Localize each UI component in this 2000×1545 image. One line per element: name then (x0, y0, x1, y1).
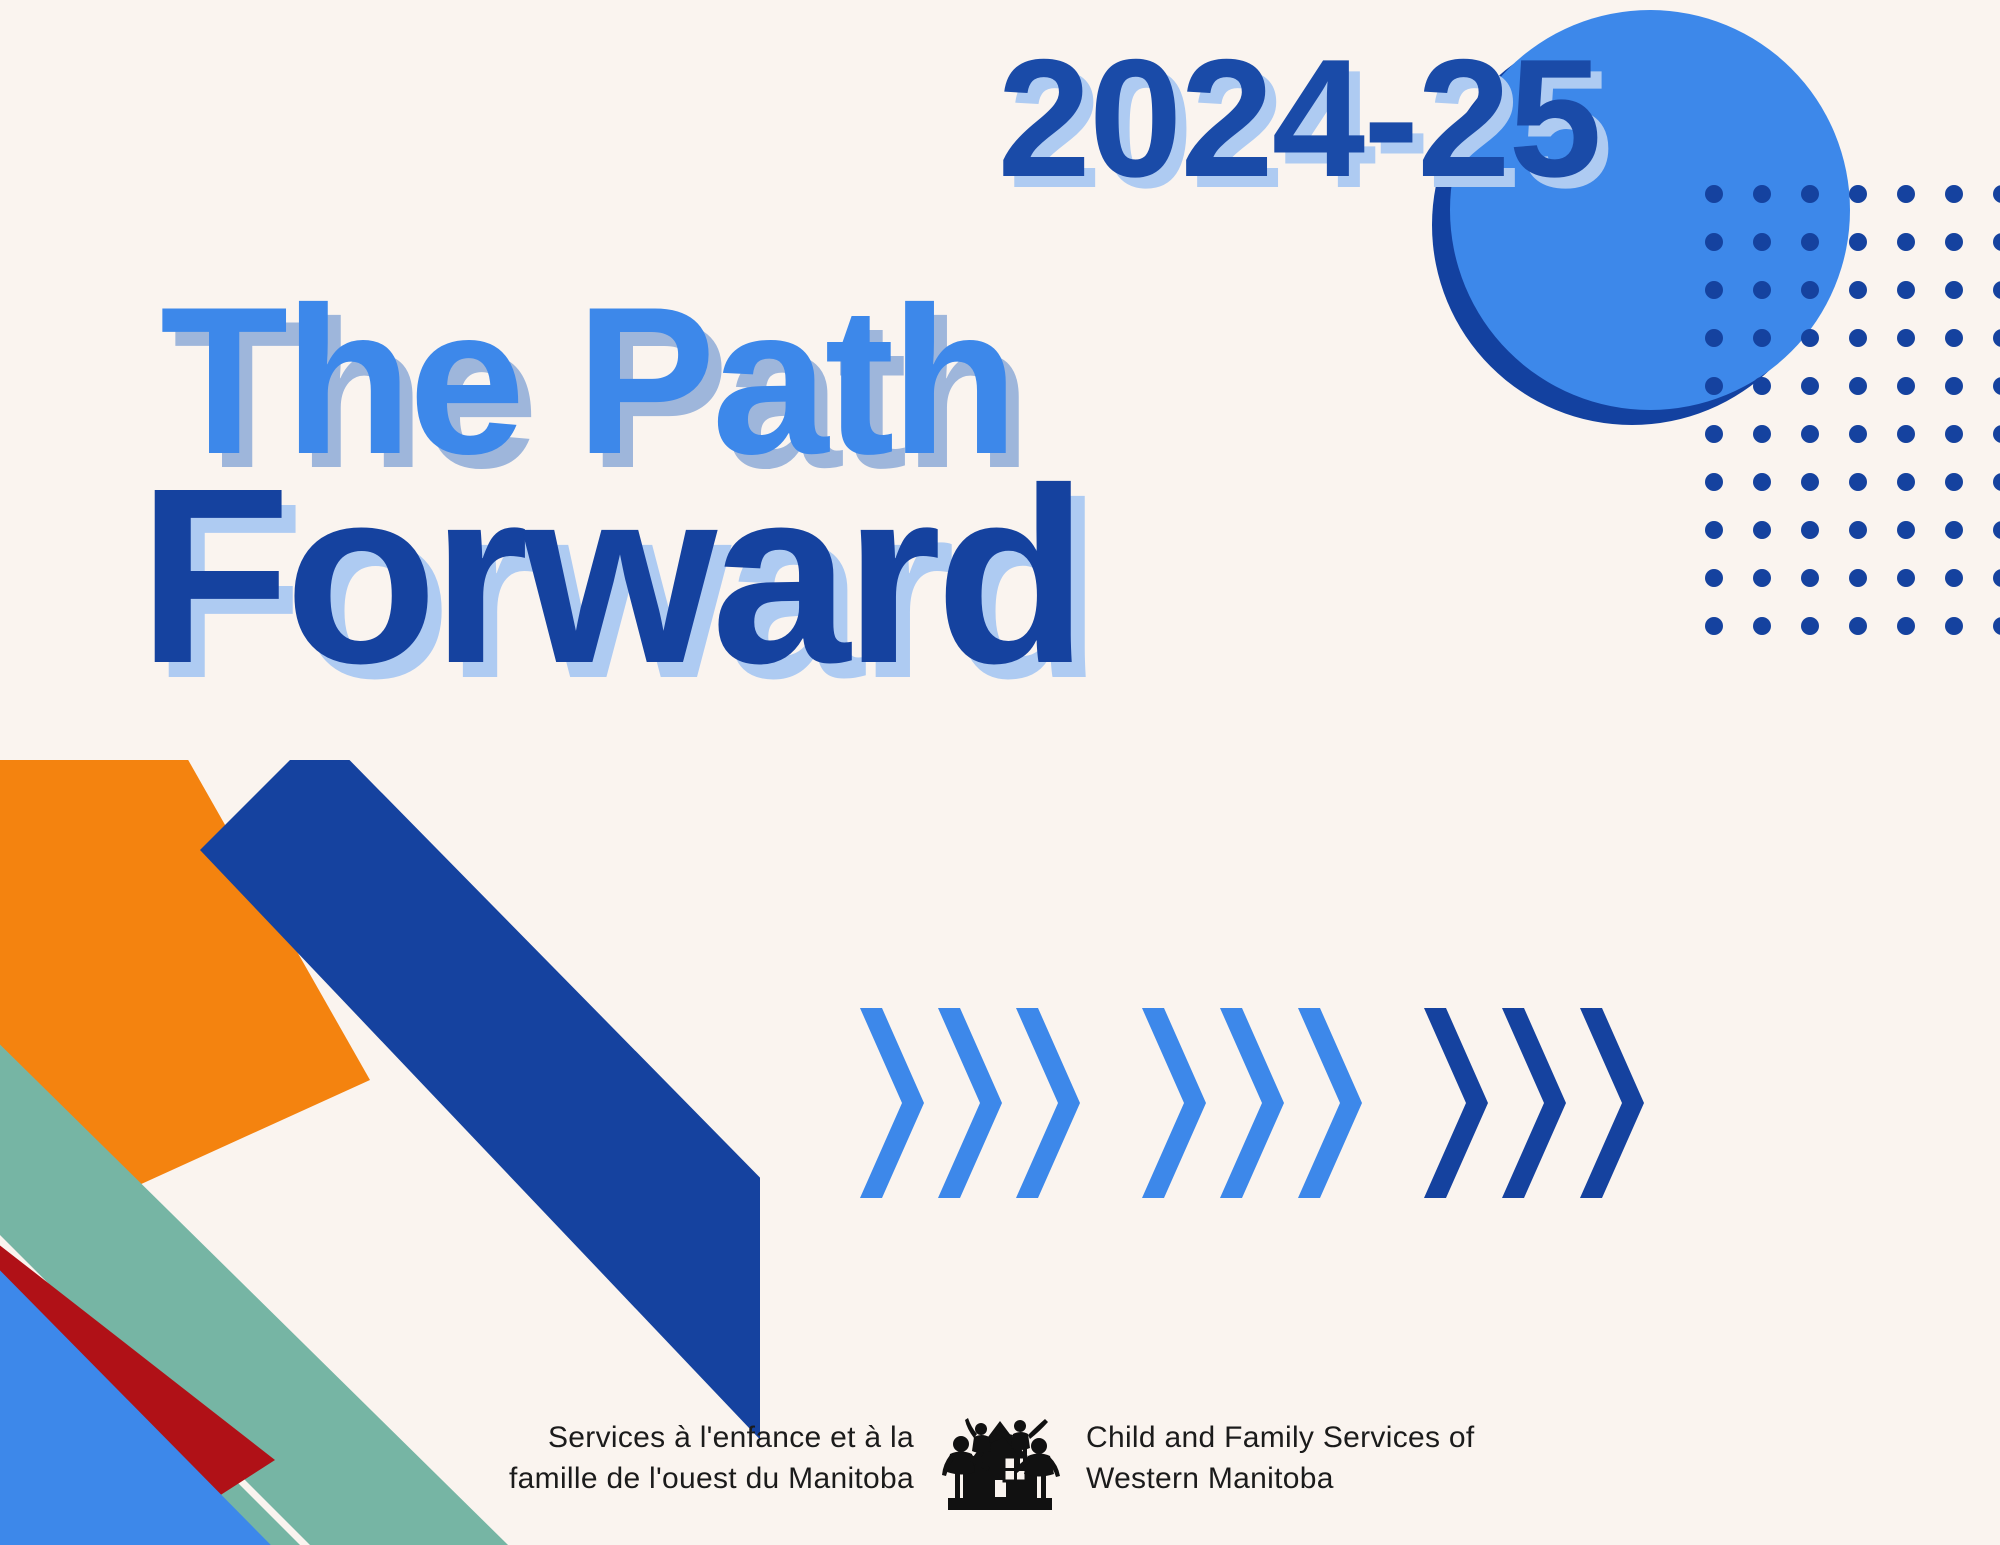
grid-dot (1945, 617, 1963, 635)
chevron-right-icon (860, 1008, 924, 1198)
grid-dot (1753, 521, 1771, 539)
grid-dot (1993, 233, 2000, 251)
grid-dot (1705, 185, 1723, 203)
grid-dot (1993, 377, 2000, 395)
grid-dot (1849, 233, 1867, 251)
grid-dot (1993, 569, 2000, 587)
chevron-right-icon (1142, 1008, 1206, 1198)
grid-dot (1897, 377, 1915, 395)
grid-dot (1945, 377, 1963, 395)
grid-dot (1753, 377, 1771, 395)
grid-dot (1705, 281, 1723, 299)
page-title: The Path Forward (138, 282, 1082, 691)
report-cover-page: 2024-25 The Path Forward Services à l'en… (0, 0, 2000, 1545)
chevron-right-icon (1502, 1008, 1566, 1198)
grid-dot (1993, 329, 2000, 347)
footer-french-line-1: Services à l'enfance et à la (394, 1417, 914, 1458)
grid-dot (1801, 377, 1819, 395)
organization-name-french: Services à l'enfance et à la famille de … (394, 1417, 914, 1500)
grid-dot (1849, 617, 1867, 635)
grid-dot (1753, 185, 1771, 203)
chevron-group-2 (1142, 1008, 1376, 1198)
title-line-2: Forward (138, 461, 1082, 691)
chevron-right-icon (1298, 1008, 1362, 1198)
grid-dot (1897, 617, 1915, 635)
grid-dot (1993, 281, 2000, 299)
footer-french-line-2: famille de l'ouest du Manitoba (394, 1458, 914, 1499)
grid-dot (1945, 569, 1963, 587)
grid-dot (1801, 281, 1819, 299)
grid-dot (1897, 521, 1915, 539)
chevron-right-icon (1424, 1008, 1488, 1198)
grid-dot (1945, 521, 1963, 539)
grid-dot (1753, 425, 1771, 443)
grid-dot (1753, 569, 1771, 587)
grid-dot (1945, 425, 1963, 443)
grid-dot (1801, 425, 1819, 443)
chevron-right-icon (1220, 1008, 1284, 1198)
grid-dot (1705, 521, 1723, 539)
chevron-arrows (860, 1008, 1658, 1198)
grid-dot (1801, 233, 1819, 251)
grid-dot (1705, 617, 1723, 635)
grid-dot (1849, 569, 1867, 587)
chevron-right-icon (938, 1008, 1002, 1198)
grid-dot (1705, 425, 1723, 443)
grid-dot (1849, 329, 1867, 347)
grid-dot (1849, 185, 1867, 203)
grid-dot (1705, 473, 1723, 491)
grid-dot (1849, 377, 1867, 395)
chevron-right-icon (1580, 1008, 1644, 1198)
grid-dot (1849, 473, 1867, 491)
grid-dot (1753, 329, 1771, 347)
grid-dot (1801, 569, 1819, 587)
organization-name-english: Child and Family Services of Western Man… (1086, 1417, 1606, 1500)
grid-dot (1801, 473, 1819, 491)
grid-dot (1993, 473, 2000, 491)
grid-dot (1945, 473, 1963, 491)
grid-dot (1993, 185, 2000, 203)
family-house-logo (940, 1399, 1060, 1517)
grid-dot (1993, 521, 2000, 539)
grid-dot (1897, 281, 1915, 299)
grid-dot (1945, 185, 1963, 203)
grid-dot (1945, 233, 1963, 251)
grid-dot (1753, 473, 1771, 491)
footer: Services à l'enfance et à la famille de … (0, 1399, 2000, 1517)
grid-dot (1801, 617, 1819, 635)
grid-dot (1753, 281, 1771, 299)
grid-dot (1945, 329, 1963, 347)
grid-dot (1801, 329, 1819, 347)
grid-dot (1705, 329, 1723, 347)
grid-dot (1705, 377, 1723, 395)
grid-dot (1753, 617, 1771, 635)
chevron-group-1 (860, 1008, 1094, 1198)
chevron-right-icon (1016, 1008, 1080, 1198)
grid-dot (1801, 521, 1819, 539)
footer-english-line-1: Child and Family Services of (1086, 1417, 1606, 1458)
grid-dot (1801, 185, 1819, 203)
grid-dot (1897, 473, 1915, 491)
grid-dot (1849, 521, 1867, 539)
grid-dot (1897, 569, 1915, 587)
grid-dot (1849, 281, 1867, 299)
grid-dot (1945, 281, 1963, 299)
grid-dot (1705, 233, 1723, 251)
grid-dot (1993, 425, 2000, 443)
grid-dot (1897, 185, 1915, 203)
grid-dot (1897, 425, 1915, 443)
grid-dot (1897, 233, 1915, 251)
grid-dot (1705, 569, 1723, 587)
chevron-group-3 (1424, 1008, 1658, 1198)
dot-grid-decoration (1705, 185, 2000, 665)
year-label: 2024-25 (0, 34, 1600, 202)
grid-dot (1897, 329, 1915, 347)
grid-dot (1993, 617, 2000, 635)
grid-dot (1753, 233, 1771, 251)
grid-dot (1849, 425, 1867, 443)
footer-english-line-2: Western Manitoba (1086, 1458, 1606, 1499)
